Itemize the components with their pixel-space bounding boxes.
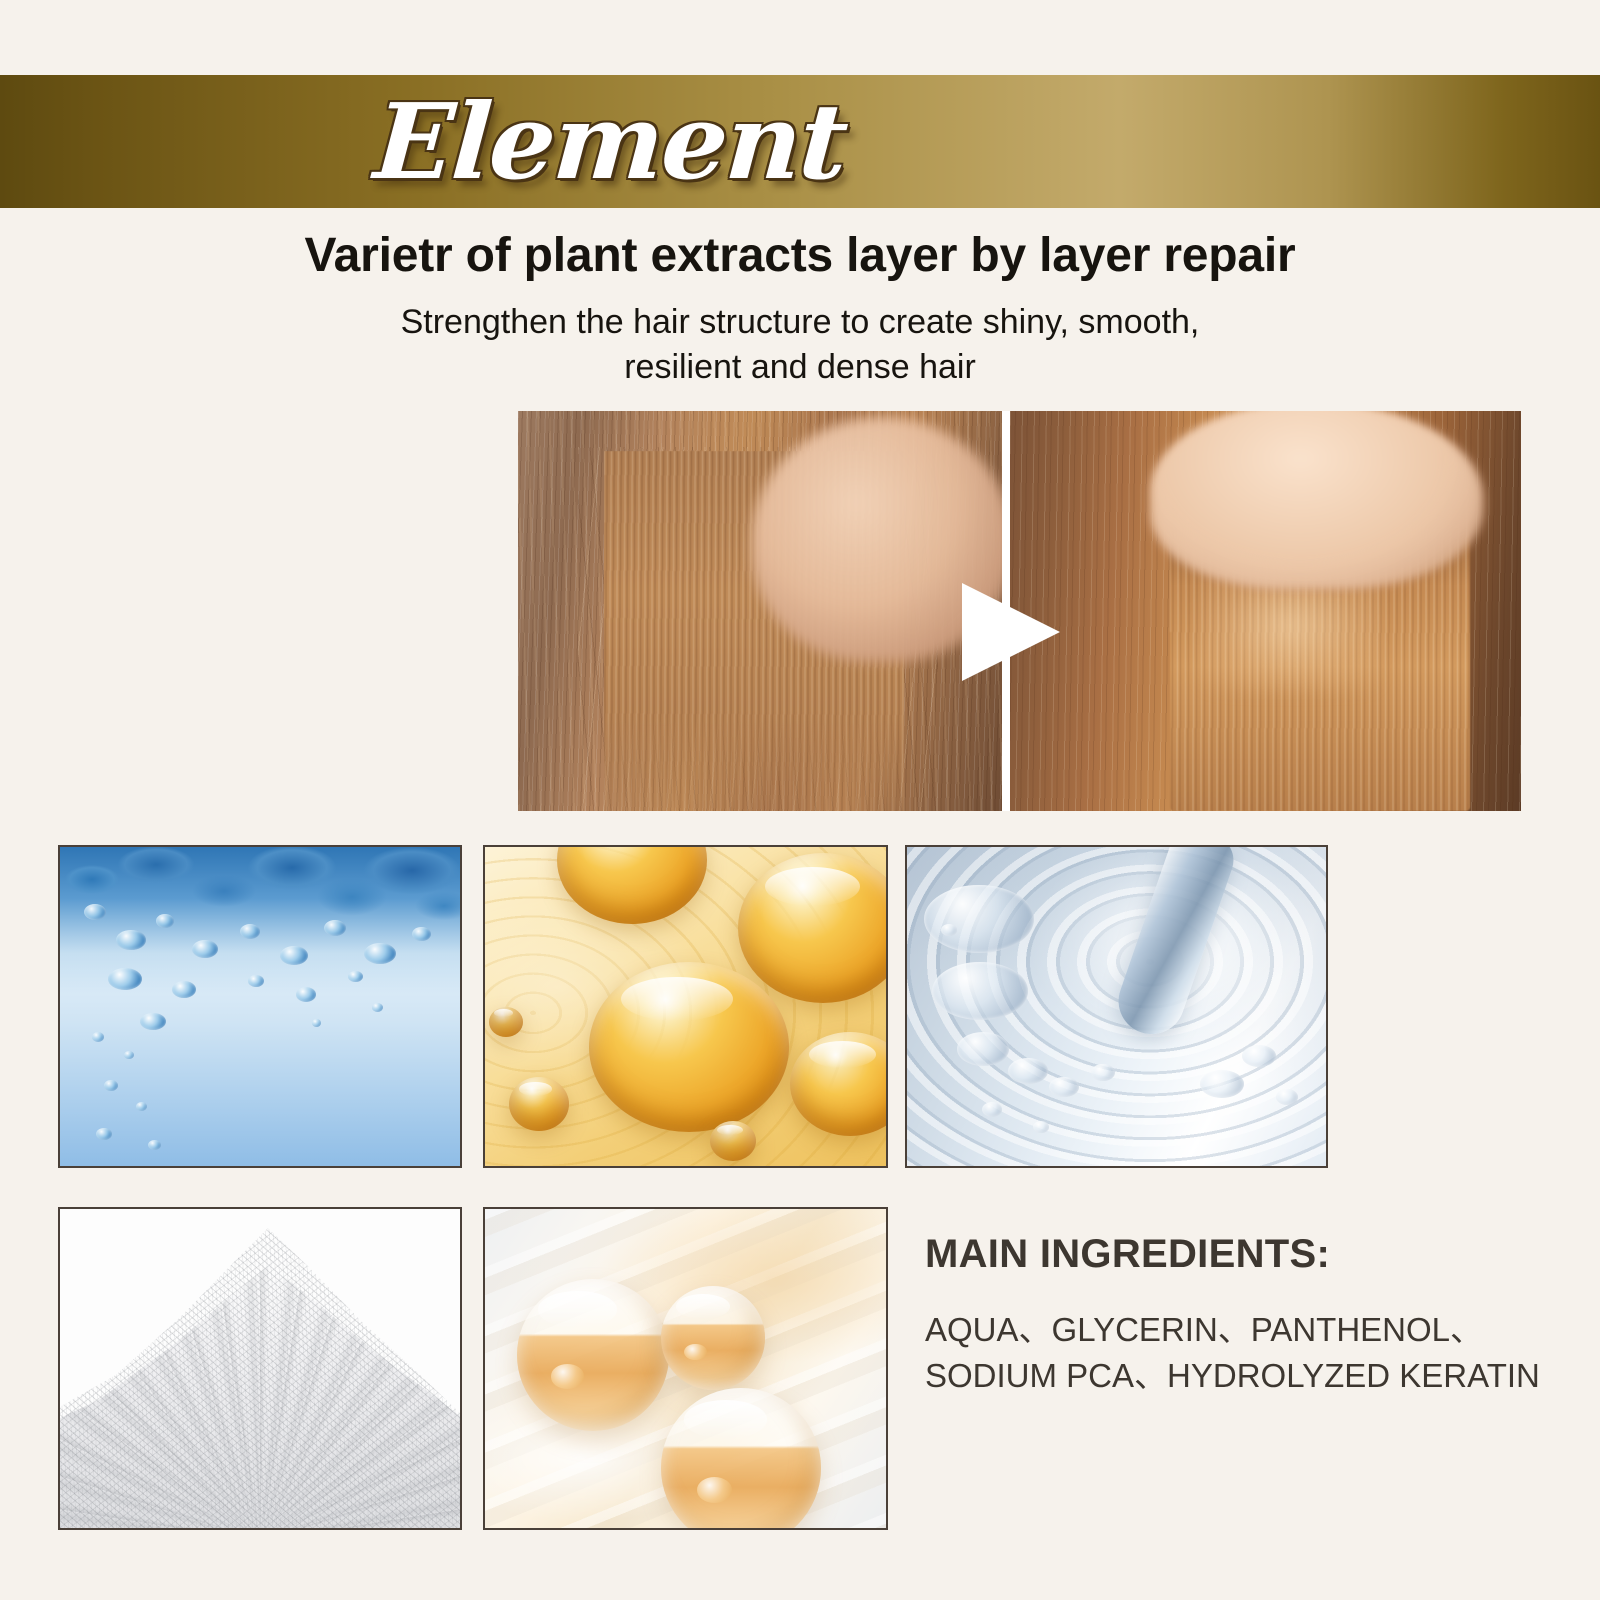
- page-subtitle: Strengthen the hair structure to create …: [0, 300, 1600, 390]
- ingredients-title: MAIN INGREDIENTS:: [925, 1232, 1565, 1277]
- gel-bubble: [1008, 1058, 1048, 1084]
- subtitle-line-1: Strengthen the hair structure to create …: [0, 300, 1600, 345]
- golden-spheres-tile: [483, 1207, 888, 1530]
- bubble-cluster: [60, 847, 460, 1166]
- page-title: Varietr of plant extracts layer by layer…: [0, 228, 1600, 283]
- golden-oil-drops-tile: [483, 845, 888, 1168]
- before-after-comparison: [518, 411, 1521, 811]
- gel-bubble: [941, 924, 957, 936]
- oil-drop: [509, 1077, 569, 1131]
- ingredients-line-2: SODIUM PCA、HYDROLYZED KERATIN: [925, 1353, 1565, 1399]
- gel-bubble: [924, 885, 1034, 953]
- brand-banner: Element: [0, 75, 1600, 208]
- oil-drop: [589, 962, 789, 1132]
- main-ingredients-block: MAIN INGREDIENTS: AQUA、GLYCERIN、PANTHENO…: [925, 1232, 1565, 1398]
- white-powder-tile: [58, 1207, 462, 1530]
- oil-drop: [710, 1121, 756, 1161]
- gel-bubble: [957, 1032, 1009, 1066]
- subtitle-line-2: resilient and dense hair: [0, 345, 1600, 390]
- golden-sphere: [661, 1286, 765, 1390]
- golden-sphere: [517, 1279, 669, 1431]
- gel-bubble: [1242, 1045, 1276, 1067]
- ingredients-line-1: AQUA、GLYCERIN、PANTHENOL、: [925, 1307, 1565, 1353]
- gel-bubble: [932, 962, 1028, 1020]
- oil-drop: [489, 1007, 523, 1037]
- gel-bubble: [1049, 1077, 1079, 1097]
- after-hair-photo: [1010, 411, 1521, 811]
- clear-gel-serum-tile: [905, 845, 1328, 1168]
- water-bubbles-tile: [58, 845, 462, 1168]
- brand-wordmark: Element: [371, 90, 849, 194]
- play-arrow-icon: [962, 583, 1060, 681]
- ingredients-list: AQUA、GLYCERIN、PANTHENOL、 SODIUM PCA、HYDR…: [925, 1307, 1565, 1398]
- thumb: [1152, 411, 1482, 588]
- before-hair-photo: [518, 411, 1002, 811]
